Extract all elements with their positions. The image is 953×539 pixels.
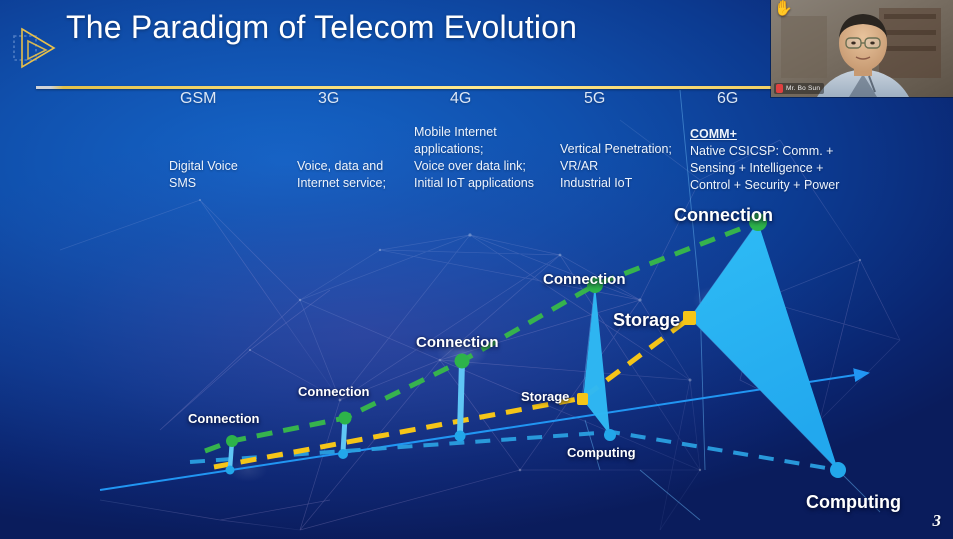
diagram-label-connection: Connection xyxy=(543,271,626,288)
diagram-label-computing: Computing xyxy=(567,445,636,460)
video-participant-tile[interactable]: ✋ Mr. Bo Sun xyxy=(771,0,953,97)
slide-canvas: The Paradigm of Telecom Evolution GSMDig… xyxy=(0,0,953,539)
diagram-label-connection: Connection xyxy=(416,334,499,351)
diagram-label-connection: Connection xyxy=(188,411,260,426)
raised-hand-icon: ✋ xyxy=(774,1,793,16)
diagram-label-storage: Storage xyxy=(521,389,569,404)
diagram-label-storage: Storage xyxy=(613,310,680,331)
diagram-label-computing: Computing xyxy=(806,492,901,513)
diagram-label-connection: Connection xyxy=(298,384,370,399)
page-number: 3 xyxy=(933,511,942,531)
participant-name: Mr. Bo Sun xyxy=(786,85,820,92)
mic-muted-icon xyxy=(776,84,783,93)
participant-name-badge: Mr. Bo Sun xyxy=(774,83,824,94)
diagram-label-connection: Connection xyxy=(674,205,773,226)
